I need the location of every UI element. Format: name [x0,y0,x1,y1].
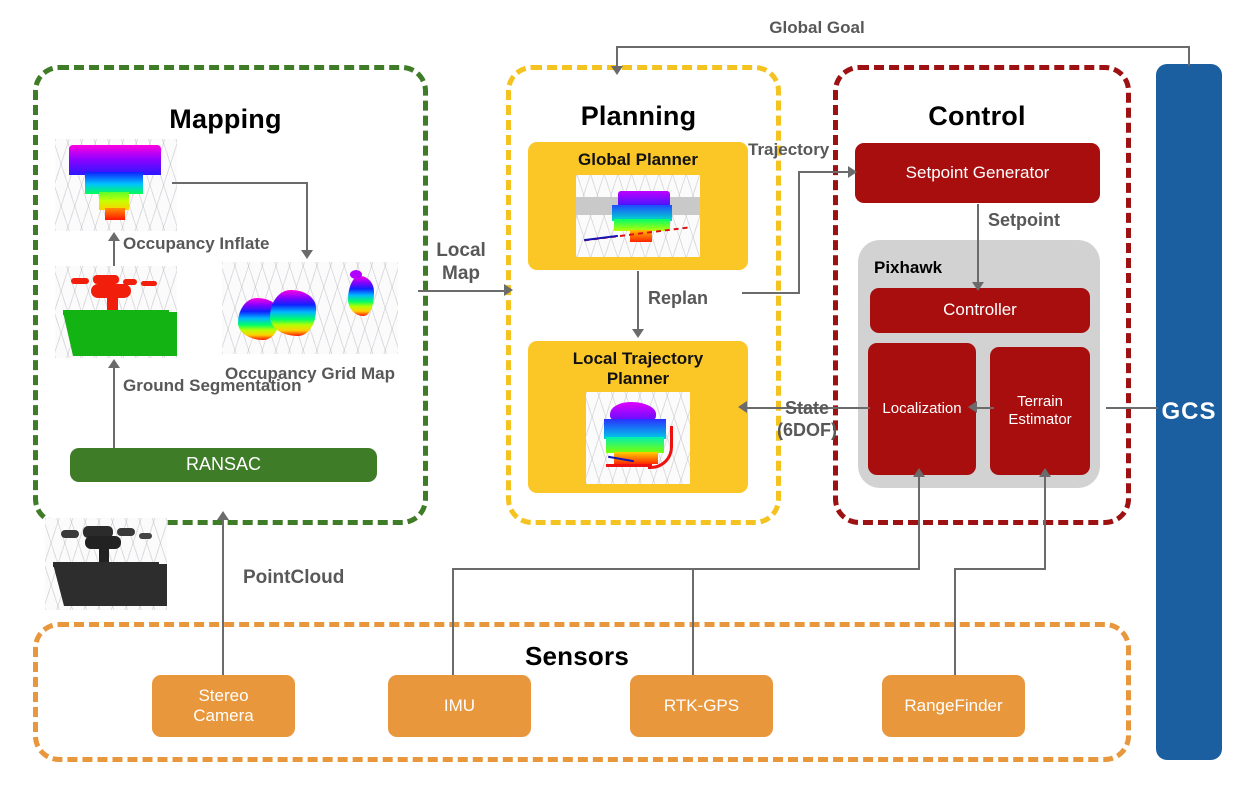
rangefinder-edge-v-upper [1044,477,1046,569]
setpoint-generator-label: Setpoint Generator [906,163,1050,183]
sensor-label-line1: RTK-GPS [664,696,739,716]
pixhawk-label: Pixhawk [874,258,942,278]
local-trajectory-planner-block[interactable]: Local Trajectory Planner [528,341,748,493]
trajectory-edge-h-upper [798,171,853,173]
local-planner-label-line1: Local Trajectory [573,349,703,369]
occupancy-inflate-edge [113,241,115,266]
group-title-sensors: Sensors [33,641,1121,672]
architecture-diagram: Mapping Planning Control Sensors Occupan… [0,0,1252,785]
replan-arrowhead [632,329,644,338]
sensor-rangefinder[interactable]: RangeFinder [882,675,1025,737]
ground-segmentation-edge [113,368,115,448]
inflate-to-grid-edge-v [306,182,308,250]
ransac-label: RANSAC [186,454,261,475]
sensor-bus-to-localization-h [452,568,920,570]
sensor-rtk-gps[interactable]: RTK-GPS [630,675,773,737]
global-planner-block[interactable]: Global Planner [528,142,748,270]
ground-segmentation-arrowhead [108,359,120,368]
global-goal-edge-seg-v-right [1188,46,1190,66]
state-label: State (6DOF) [752,398,862,441]
pointcloud-label: PointCloud [243,567,344,588]
local-trajectory-planner-label: Local Trajectory Planner [573,349,703,388]
sensor-label-line1: IMU [444,696,475,716]
local-map-label-line1: Local [411,240,511,263]
terrain-estimator-block[interactable]: Terrain Estimator [990,347,1090,475]
state-label-line1: State [752,398,862,420]
terrain-estimator-input-arrowhead [1039,468,1051,477]
occupancy-inflate-label: Occupancy Inflate [123,234,269,253]
terrain-to-localization-edge [976,407,994,409]
global-goal-arrowhead [611,66,623,75]
rtkgps-edge-v [692,568,694,675]
setpoint-edge [977,204,979,284]
pointcloud-edge [222,520,224,675]
group-title-mapping: Mapping [33,104,418,135]
replan-label: Replan [648,288,708,308]
state-label-line2: (6DOF) [752,420,862,442]
occupancy-inflate-arrowhead [108,232,120,241]
terrain-estimator-label-line2: Estimator [1008,411,1071,429]
group-title-planning: Planning [506,101,771,132]
trajectory-edge-v [798,171,800,294]
controller-block[interactable]: Controller [870,288,1090,333]
global-planner-label: Global Planner [578,150,698,170]
trajectory-arrowhead [848,166,857,178]
setpoint-label: Setpoint [988,210,1060,230]
local-map-label-line2: Map [411,263,511,286]
rangefinder-edge-h [954,568,1046,570]
inflate-to-grid-edge-h [172,182,308,184]
global-plan-thumbnail [576,175,700,257]
terrain-estimator-label-line1: Terrain [1017,393,1063,411]
setpoint-arrowhead [972,282,984,291]
sensor-label-line1: Stereo [198,686,248,706]
trajectory-label: Trajectory [748,140,829,159]
raw-pointcloud-thumbnail [45,518,167,610]
localization-input-arrowhead [913,468,925,477]
inflated-occupancy-thumbnail [55,139,177,231]
local-trajectory-thumbnail [586,392,690,484]
gcs-link-edge [1106,407,1158,409]
setpoint-generator-block[interactable]: Setpoint Generator [855,143,1100,203]
local-map-arrowhead [504,284,513,296]
terrain-to-localization-arrowhead [968,401,977,413]
trajectory-edge-h-lower [742,292,800,294]
localization-label: Localization [882,400,961,418]
sensor-label-line1: RangeFinder [904,696,1002,716]
occupancy-grid-map-thumbnail [222,262,398,354]
replan-edge [637,271,639,329]
local-planner-label-line2: Planner [573,369,703,389]
global-goal-edge-seg-h [616,46,1190,48]
localization-block[interactable]: Localization [868,343,976,475]
gcs-label: GCS [1161,398,1216,426]
sensor-imu[interactable]: IMU [388,675,531,737]
rangefinder-edge-v-lower [954,568,956,675]
state-arrowhead [738,401,747,413]
ground-segmentation-thumbnail [55,266,177,358]
group-title-control: Control [833,101,1121,132]
sensor-label-line2: Camera [193,706,253,726]
local-map-edge [418,290,506,292]
sensor-bus-to-localization-v [918,477,920,569]
inflate-to-grid-arrowhead [301,250,313,259]
controller-label: Controller [943,300,1017,320]
sensor-stereo-camera[interactable]: Stereo Camera [152,675,295,737]
local-map-label: Local Map [411,240,511,286]
pointcloud-arrowhead [217,511,229,520]
gcs-block[interactable]: GCS [1156,64,1222,760]
ransac-block[interactable]: RANSAC [70,448,377,482]
imu-edge-v [452,568,454,675]
global-goal-label: Global Goal [722,18,912,37]
ground-segmentation-label: Ground Segmentation [123,376,302,395]
